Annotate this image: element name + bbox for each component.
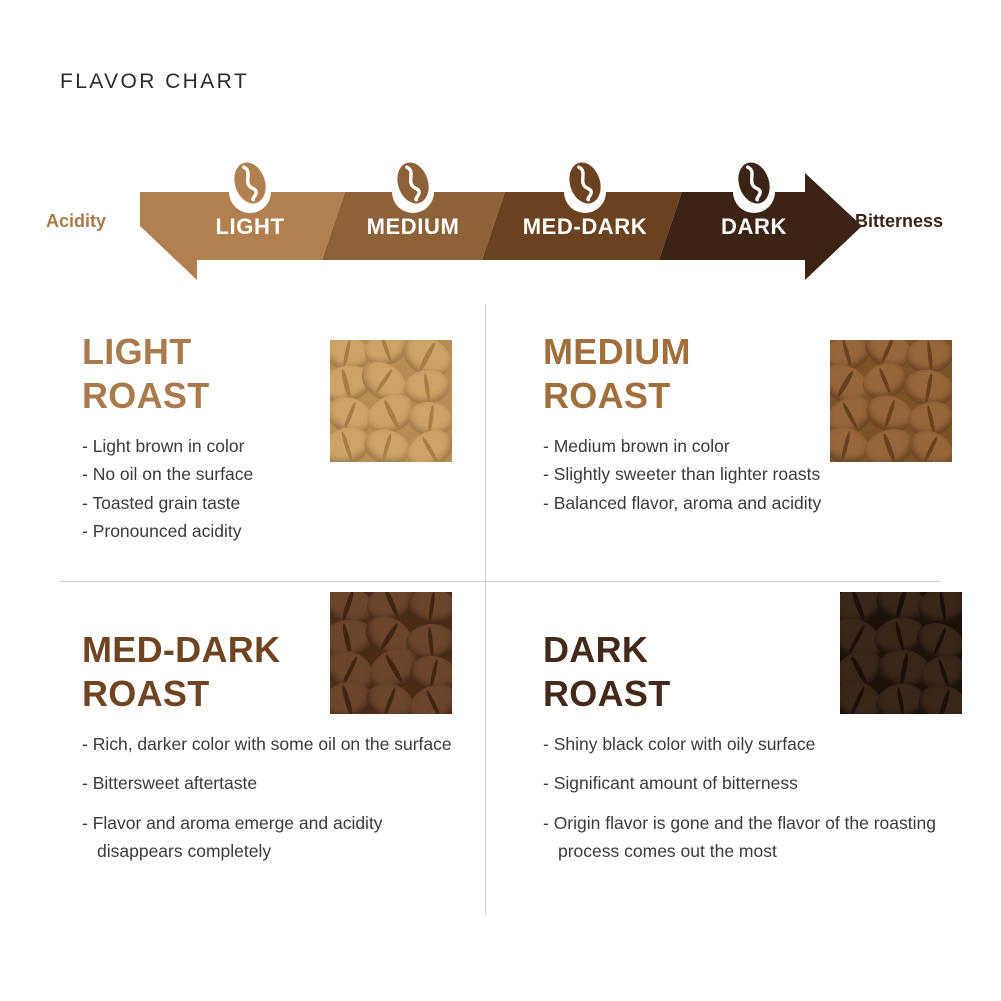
flavor-chart-page: FLAVOR CHART	[0, 0, 1001, 1001]
list-item: - Balanced flavor, aroma and acidity	[543, 489, 943, 517]
light-roast-beans-photo	[330, 340, 452, 462]
medium-roast-beans-photo	[830, 340, 952, 462]
segment-label-med-dark: MED-DARK	[523, 214, 648, 239]
list-item: - Toasted grain taste	[82, 489, 462, 517]
axis-label-acidity: Acidity	[46, 211, 106, 232]
list-item: - Shiny black color with oily surface	[543, 730, 943, 758]
list-item: - Bittersweet aftertaste	[82, 769, 462, 797]
dark-roast-beans-photo	[840, 592, 962, 714]
list-item: - No oil on the surface	[82, 460, 462, 488]
list-item: - Pronounced acidity	[82, 517, 462, 545]
vertical-divider	[485, 305, 486, 915]
segment-label-light: LIGHT	[216, 214, 285, 239]
list-item: - Flavor and aroma emerge and acidity di…	[82, 809, 462, 866]
roast-spectrum-bar: LIGHT MEDIUM MED-DARK DARK	[0, 150, 1001, 280]
dark-roast-bullet-list: - Shiny black color with oily surface - …	[543, 730, 943, 865]
segment-label-medium: MEDIUM	[367, 214, 460, 239]
axis-label-bitterness: Bitterness	[855, 211, 943, 232]
horizontal-divider	[60, 581, 940, 582]
list-item: - Origin flavor is gone and the flavor o…	[543, 809, 943, 866]
med-dark-roast-beans-photo	[330, 592, 452, 714]
page-title: FLAVOR CHART	[60, 70, 249, 94]
list-item: - Slightly sweeter than lighter roasts	[543, 460, 943, 488]
list-item: - Significant amount of bitterness	[543, 769, 943, 797]
list-item: - Rich, darker color with some oil on th…	[82, 730, 462, 758]
med-dark-roast-bullet-list: - Rich, darker color with some oil on th…	[82, 730, 462, 865]
segment-label-dark: DARK	[721, 214, 787, 239]
